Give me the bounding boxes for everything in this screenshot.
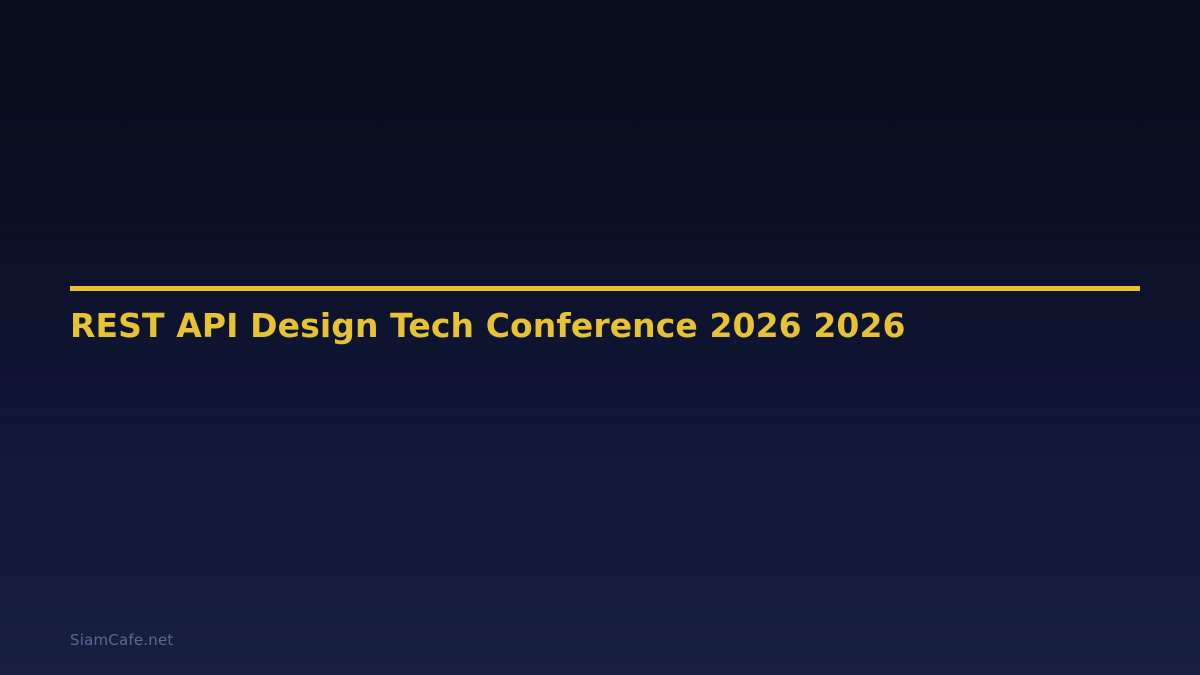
title-block: REST API Design Tech Conference 2026 202… xyxy=(70,286,1140,346)
slide-title: REST API Design Tech Conference 2026 202… xyxy=(70,291,1140,346)
presentation-slide: REST API Design Tech Conference 2026 202… xyxy=(0,0,1200,675)
footer-attribution: SiamCafe.net xyxy=(70,630,173,650)
